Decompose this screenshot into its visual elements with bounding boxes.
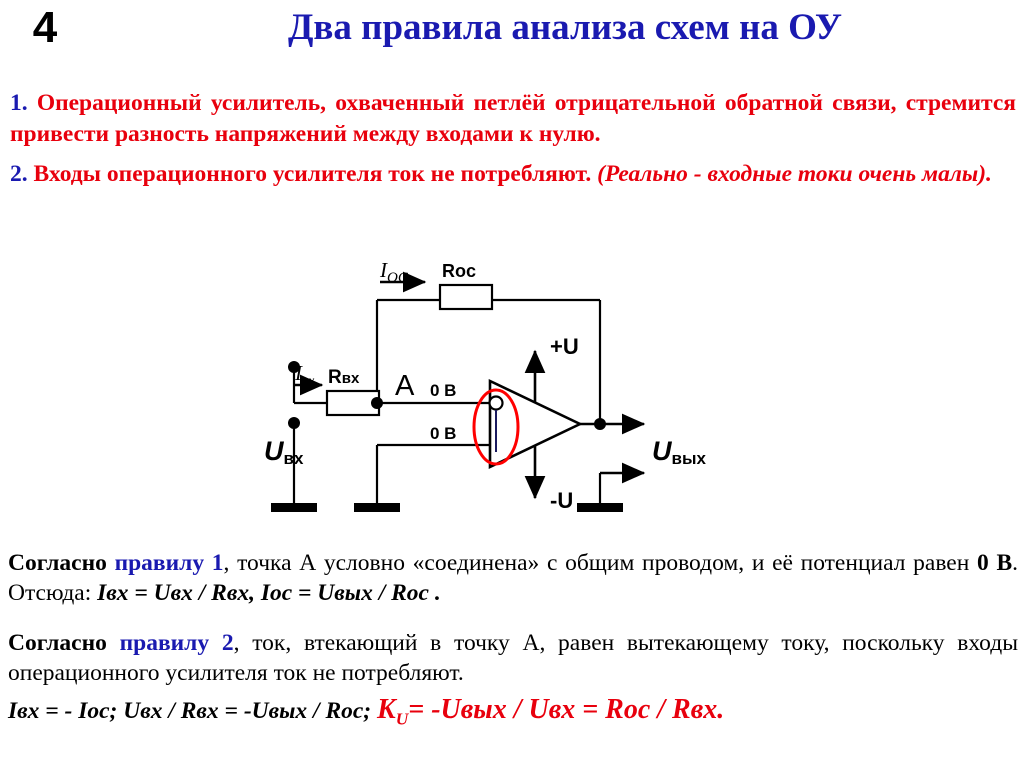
ground-symbol-output: [577, 503, 623, 512]
formula-red-gain: KU= -Uвых / Uвх = Roc / Rвх.: [377, 694, 724, 725]
label-resistor-roc: Roc: [442, 261, 476, 281]
rule-item-2: 2. Входы операционного усилителя ток не …: [10, 159, 1016, 190]
page-title: Два правила анализа схем на ОУ: [120, 4, 1010, 52]
label-current-ioc: IOC: [379, 258, 409, 286]
inverting-input-bubble: [490, 397, 503, 410]
label-voltage-noninverting: 0 В: [430, 424, 456, 443]
rule-1-number: 1.: [10, 90, 28, 116]
rule-1-text: Операционный усилитель, охваченный петлё…: [10, 90, 1016, 147]
explanation-paragraph-1: Согласно правилу 1, точка А условно «сое…: [8, 548, 1018, 608]
label-supply-positive: +U: [550, 334, 579, 359]
final-formula-line: Iвх = - Iос; Uвх / Rвх = -Uвых / Rос; KU…: [8, 694, 1018, 736]
rules-block: 1. Операционный усилитель, охваченный пе…: [10, 88, 1016, 190]
formula-k-subscript: U: [396, 710, 409, 729]
junction-output: [594, 418, 606, 430]
label-resistor-rvx: Rвх: [328, 367, 360, 388]
rule-item-1: 1. Операционный усилитель, охваченный пе…: [10, 88, 1016, 150]
junction-node-a: [371, 397, 383, 409]
label-voltage-input: Uвх: [264, 436, 304, 468]
label-voltage-inverting: 0 В: [430, 381, 456, 400]
label-supply-negative: -U: [550, 488, 573, 513]
ground-symbol-input: [271, 503, 317, 512]
explain2-lead: Согласно: [8, 630, 120, 656]
rule-2-note: (Реально - входные токи очень малы).: [597, 161, 992, 187]
slide-number: 4: [10, 2, 80, 54]
label-voltage-output: Uвых: [652, 436, 706, 468]
resistor-roc: [440, 285, 492, 309]
opamp-circuit-diagram: IOC Roc Iвх Rвх A 0 В 0 В +U -U Uвх Uвых: [262, 255, 762, 545]
label-node-a: A: [395, 370, 415, 402]
explain1-mid: , точка А условно «соединена» с общим пр…: [224, 550, 977, 576]
label-current-ivx: Iвх: [294, 361, 315, 389]
explain1-rule-ref: правилу 1: [115, 550, 224, 576]
slide-header: 4 Два правила анализа схем на ОУ: [0, 0, 1024, 62]
formula-black-part: Iвх = - Iос; Uвх / Rвх = -Uвых / Rос;: [8, 698, 371, 724]
explain1-lead: Согласно: [8, 550, 115, 576]
formula-red-rest: = -Uвых / Uвх = Roc / Rвх.: [408, 694, 724, 725]
explanation-paragraph-2: Согласно правилу 2, ток, втекающий в точ…: [8, 628, 1018, 688]
formula-k-symbol: K: [377, 694, 396, 725]
rule-2-number: 2.: [10, 161, 28, 187]
rule-2-text: Входы операционного усилителя ток не пот…: [34, 161, 592, 187]
explain1-zero-volts: 0 В: [977, 550, 1012, 576]
ground-symbol-noninv: [354, 503, 400, 512]
explain1-formula: Iвх = Uвх / Rвх, Iос = Uвых / Rос .: [97, 580, 441, 606]
explain2-rule-ref: правилу 2: [120, 630, 234, 656]
